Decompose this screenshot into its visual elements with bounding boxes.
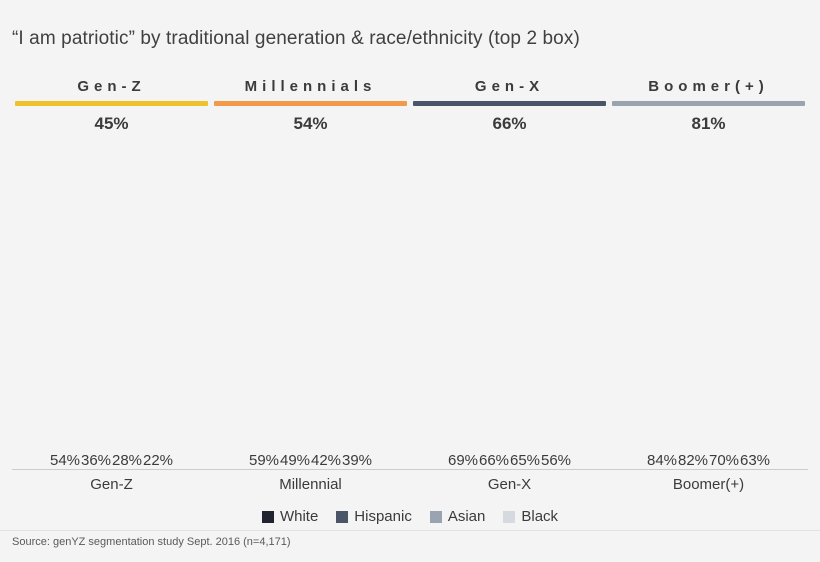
bar-hispanic[interactable]: 49% — [281, 150, 310, 469]
bar-white[interactable]: 84% — [648, 150, 677, 469]
bars: 84% 82% 70% 63% — [648, 150, 770, 469]
bar-value-label: 39% — [342, 452, 372, 469]
bar-asian[interactable]: 70% — [710, 150, 739, 469]
bar-groups: 54% 36% 28% 22% 59% — [12, 150, 808, 469]
bar-value-label: 56% — [541, 452, 571, 469]
bar-value-label: 63% — [740, 452, 770, 469]
category-label-boomer: Boomer(+) — [609, 476, 808, 493]
generation-label: Gen-X — [410, 78, 609, 95]
bars: 69% 66% 65% 56% — [449, 150, 571, 469]
bar-chart-plot-area: 54% 36% 28% 22% 59% — [12, 150, 808, 470]
bar-value-label: 54% — [50, 452, 80, 469]
category-label-gen-x: Gen-X — [410, 476, 609, 493]
generation-color-rule — [612, 101, 805, 106]
bar-hispanic[interactable]: 66% — [480, 150, 509, 469]
bar-asian[interactable]: 42% — [312, 150, 341, 469]
x-axis-line — [12, 469, 808, 470]
legend-item-white[interactable]: White — [262, 508, 318, 525]
x-axis-category-labels: Gen-Z Millennial Gen-X Boomer(+) — [12, 476, 808, 493]
bar-group-millennial: 59% 49% 42% 39% — [211, 150, 410, 469]
bar-value-label: 22% — [143, 452, 173, 469]
bar-black[interactable]: 22% — [144, 150, 173, 469]
legend-item-hispanic[interactable]: Hispanic — [336, 508, 412, 525]
bar-group-gen-x: 69% 66% 65% 56% — [410, 150, 609, 469]
bar-black[interactable]: 56% — [542, 150, 571, 469]
generation-value: 66% — [410, 114, 609, 134]
bar-group-boomer: 84% 82% 70% 63% — [609, 150, 808, 469]
bar-value-label: 42% — [311, 452, 341, 469]
generation-label: Boomer(+) — [609, 78, 808, 95]
legend-label: Black — [521, 508, 558, 525]
legend-swatch-icon — [336, 511, 348, 523]
generation-summary-strip: Gen-Z 45% Millennials 54% Gen-X 66% Boom… — [12, 76, 808, 138]
bar-value-label: 36% — [81, 452, 111, 469]
generation-summary-millennials: Millennials 54% — [211, 76, 410, 138]
legend-swatch-icon — [503, 511, 515, 523]
legend-label: White — [280, 508, 318, 525]
bar-black[interactable]: 63% — [741, 150, 770, 469]
bar-value-label: 66% — [479, 452, 509, 469]
bar-value-label: 49% — [280, 452, 310, 469]
source-note: Source: genYZ segmentation study Sept. 2… — [12, 536, 291, 548]
bar-black[interactable]: 39% — [343, 150, 372, 469]
generation-summary-gen-x: Gen-X 66% — [410, 76, 609, 138]
bars: 59% 49% 42% 39% — [250, 150, 372, 469]
generation-value: 54% — [211, 114, 410, 134]
generation-color-rule — [15, 101, 208, 106]
bar-value-label: 69% — [448, 452, 478, 469]
category-label-millennial: Millennial — [211, 476, 410, 493]
bar-asian[interactable]: 28% — [113, 150, 142, 469]
bar-value-label: 70% — [709, 452, 739, 469]
bars: 54% 36% 28% 22% — [51, 150, 173, 469]
generation-label: Gen-Z — [12, 78, 211, 95]
bar-asian[interactable]: 65% — [511, 150, 540, 469]
bar-group-gen-z: 54% 36% 28% 22% — [12, 150, 211, 469]
generation-color-rule — [413, 101, 606, 106]
chart-legend: White Hispanic Asian Black — [0, 508, 820, 525]
bar-white[interactable]: 54% — [51, 150, 80, 469]
bar-white[interactable]: 69% — [449, 150, 478, 469]
generation-summary-boomer: Boomer(+) 81% — [609, 76, 808, 138]
bar-value-label: 28% — [112, 452, 142, 469]
generation-summary-gen-z: Gen-Z 45% — [12, 76, 211, 138]
bar-value-label: 65% — [510, 452, 540, 469]
bar-value-label: 59% — [249, 452, 279, 469]
legend-item-black[interactable]: Black — [503, 508, 558, 525]
generation-value: 45% — [12, 114, 211, 134]
legend-swatch-icon — [262, 511, 274, 523]
legend-item-asian[interactable]: Asian — [430, 508, 486, 525]
category-label-gen-z: Gen-Z — [12, 476, 211, 493]
legend-label: Asian — [448, 508, 486, 525]
bar-hispanic[interactable]: 36% — [82, 150, 111, 469]
bar-value-label: 82% — [678, 452, 708, 469]
page-title: “I am patriotic” by traditional generati… — [12, 28, 580, 50]
bar-hispanic[interactable]: 82% — [679, 150, 708, 469]
legend-label: Hispanic — [354, 508, 412, 525]
generation-color-rule — [214, 101, 407, 106]
generation-label: Millennials — [211, 78, 410, 95]
generation-value: 81% — [609, 114, 808, 134]
legend-swatch-icon — [430, 511, 442, 523]
footer-divider — [0, 530, 820, 531]
bar-white[interactable]: 59% — [250, 150, 279, 469]
bar-value-label: 84% — [647, 452, 677, 469]
